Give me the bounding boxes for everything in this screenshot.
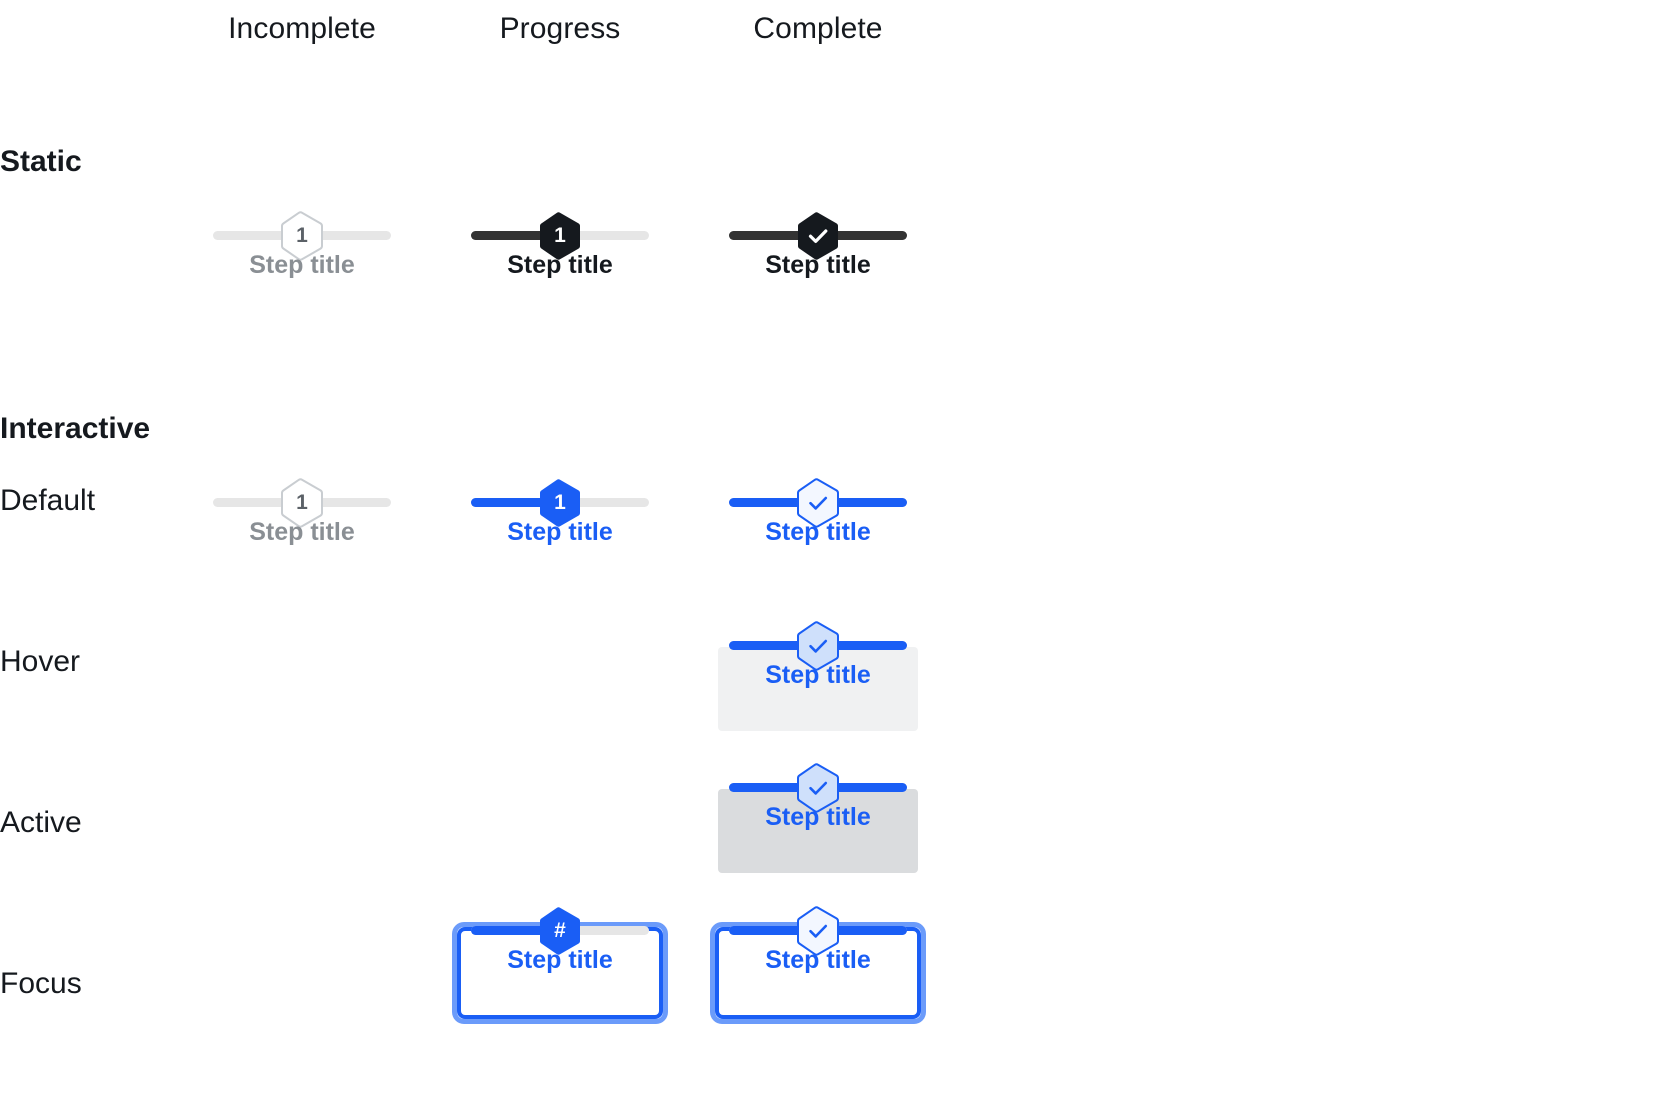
step-default-incomplete[interactable]: 1 Step title — [172, 462, 432, 582]
step-track-incomplete: 1 — [213, 498, 391, 507]
step-title: Step title — [430, 251, 690, 280]
state-label-active: Active — [0, 806, 82, 840]
step-track-complete — [729, 231, 907, 240]
step-static-progress: 1 Step title — [430, 195, 690, 315]
step-title: Step title — [430, 518, 690, 547]
step-title: Step title — [430, 946, 690, 975]
state-label-hover: Hover — [0, 645, 80, 679]
step-default-complete[interactable]: Step title — [688, 462, 948, 582]
step-hover-complete[interactable]: Step title — [688, 605, 948, 725]
group-label-static: Static — [0, 145, 82, 179]
step-track-complete — [729, 926, 907, 935]
step-default-progress[interactable]: 1 Step title — [430, 462, 690, 582]
state-label-focus: Focus — [0, 967, 82, 1001]
step-title: Step title — [688, 803, 948, 832]
step-focus-progress[interactable]: # Step title — [430, 890, 690, 1010]
state-label-default: Default — [0, 484, 95, 518]
step-track-complete — [729, 783, 907, 792]
step-title: Step title — [688, 946, 948, 975]
step-title: Step title — [688, 251, 948, 280]
column-header-complete: Complete — [688, 12, 948, 46]
step-title: Step title — [172, 251, 432, 280]
step-static-incomplete: 1 Step title — [172, 195, 432, 315]
step-active-complete[interactable]: Step title — [688, 747, 948, 867]
step-track-complete — [729, 498, 907, 507]
step-track-incomplete: 1 — [213, 231, 391, 240]
column-header-incomplete: Incomplete — [172, 12, 432, 46]
step-title: Step title — [688, 661, 948, 690]
step-track-progress: 1 — [471, 231, 649, 240]
step-title: Step title — [172, 518, 432, 547]
step-track-complete — [729, 641, 907, 650]
step-track-progress: # — [471, 926, 649, 935]
group-label-interactive: Interactive — [0, 412, 150, 446]
column-header-progress: Progress — [430, 12, 690, 46]
stepper-spec-sheet: Incomplete Progress Complete Static Inte… — [0, 0, 1672, 1100]
step-title: Step title — [688, 518, 948, 547]
step-track-progress: 1 — [471, 498, 649, 507]
step-focus-complete[interactable]: Step title — [688, 890, 948, 1010]
step-static-complete: Step title — [688, 195, 948, 315]
